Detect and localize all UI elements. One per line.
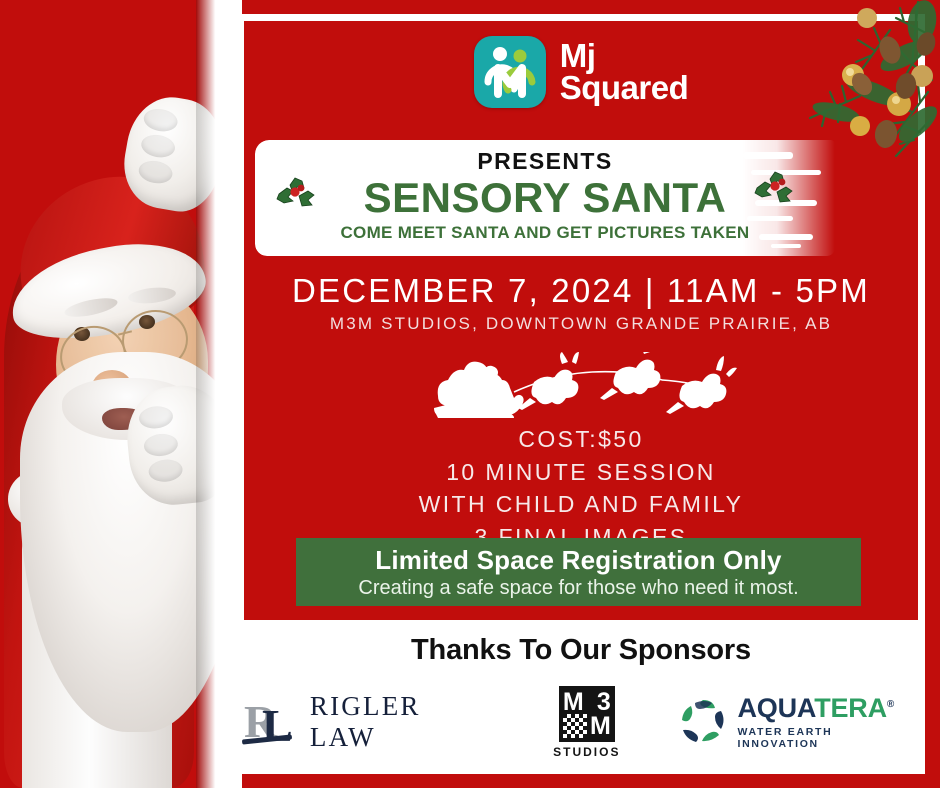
glove-knuckle (139, 132, 176, 160)
m3m-cell-m-bottom: M (590, 714, 611, 739)
logo-glyph (474, 36, 546, 108)
sponsors-panel: Thanks To Our Sponsors R L RIGLER LAW M … (244, 620, 918, 767)
m3m-studios-label: STUDIOS (553, 745, 620, 759)
sponsor-m3m-studios: M 3 M STUDIOS (553, 686, 620, 759)
registration-subline: Creating a safe space for those who need… (358, 577, 798, 600)
gold-bauble (850, 116, 870, 136)
rigler-law-wordmark: RIGLER LAW (310, 691, 495, 753)
aquatera-name-part2: TERA (814, 693, 887, 723)
glove-knuckle (142, 106, 179, 134)
detail-line: WITH CHILD AND FAMILY (237, 488, 925, 521)
title-banner: PRESENTS SENSORY SANTA COME MEET SANTA A… (255, 140, 835, 256)
aquatera-name-part1: AQUA (737, 693, 814, 723)
glove-knuckle (138, 405, 174, 430)
registration-headline: Limited Space Registration Only (375, 545, 781, 576)
m3m-checker-pattern (563, 714, 587, 738)
glove-knuckle (137, 158, 174, 186)
brush-streak (771, 244, 801, 248)
event-location: M3M STUDIOS, DOWNTOWN GRANDE PRAIRIE, AB (237, 314, 925, 334)
brand-line-2: Squared (560, 72, 689, 104)
aquatera-glyph (678, 697, 728, 747)
glove-knuckle (148, 458, 184, 483)
santa-sleigh-reindeer-icon (430, 352, 742, 424)
detail-line: 10 MINUTE SESSION (237, 456, 925, 489)
monogram-letter-l: L (262, 703, 293, 749)
sponsor-rigler-law: R L RIGLER LAW (244, 691, 495, 753)
white-panel-edge (196, 0, 242, 788)
aquatera-wordmark: AQUATERA® WATER EARTH INNOVATION (737, 695, 918, 750)
brand-logo: Mj Squared (237, 36, 925, 108)
event-date-time: DECEMBER 7, 2024 | 11AM - 5PM (237, 272, 925, 310)
presents-label: PRESENTS (255, 148, 835, 175)
title-subtitle: COME MEET SANTA AND GET PICTURES TAKEN (255, 223, 835, 243)
detail-line: COST:$50 (237, 423, 925, 456)
m3m-cell-three: 3 (597, 690, 611, 715)
registration-banner: Limited Space Registration Only Creating… (296, 538, 861, 606)
m3m-cell-m-top: M (563, 690, 584, 715)
aquatera-tagline: WATER EARTH INNOVATION (737, 726, 918, 750)
aquatera-name: AQUATERA® (737, 695, 918, 722)
sponsors-title: Thanks To Our Sponsors (244, 634, 918, 667)
event-poster: Mj Squared PRESENTS SENSORY SANTA COME M… (0, 0, 940, 788)
gold-bauble (857, 8, 877, 28)
aquatera-logo-icon (678, 697, 728, 747)
session-details: COST:$50 10 MINUTE SESSION WITH CHILD AN… (237, 423, 925, 554)
page-title: SENSORY SANTA (255, 174, 835, 222)
brand-line-1: Mj (560, 40, 689, 72)
sleigh-glyph (430, 352, 742, 424)
registered-mark: ® (887, 699, 894, 710)
glove-knuckle (143, 432, 179, 457)
santa-claus-peeking-photo (0, 0, 250, 788)
m3m-logo-icon: M 3 M (559, 686, 615, 742)
sponsor-aquatera: AQUATERA® WATER EARTH INNOVATION (678, 695, 918, 750)
sponsor-logo-list: R L RIGLER LAW M 3 M STUDIOS (244, 682, 918, 762)
rigler-monogram-icon: R L (244, 697, 298, 747)
holly-icon (753, 168, 801, 210)
brand-wordmark: Mj Squared (560, 40, 689, 103)
holly-icon (273, 172, 321, 214)
mj-squared-logo-icon (474, 36, 546, 108)
